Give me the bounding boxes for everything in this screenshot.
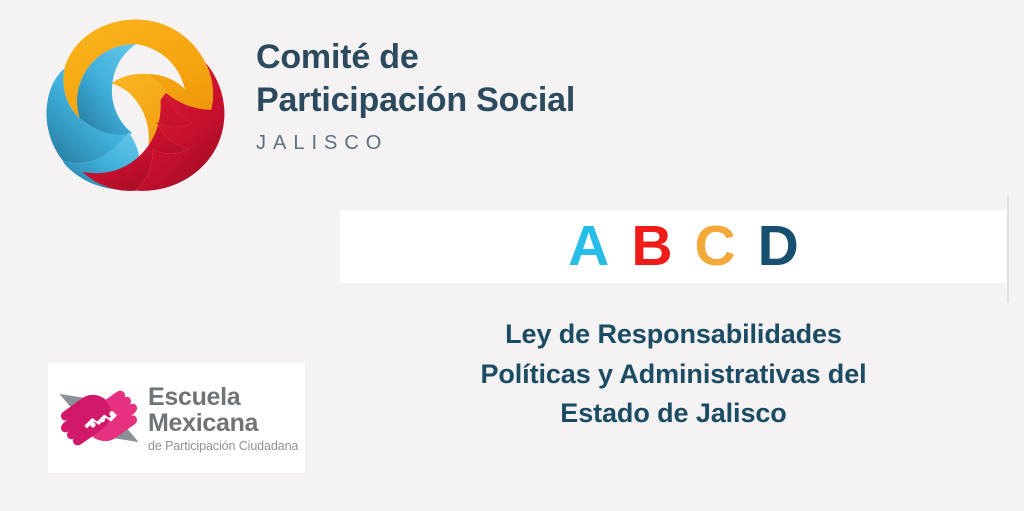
abcd-letter-a: A	[568, 218, 609, 275]
abcd-letters-group: A B C D	[568, 218, 799, 275]
crossed-hands-icon	[56, 375, 142, 461]
abcd-letter-c: C	[695, 218, 736, 275]
escuela-line2: Mexicana	[148, 410, 298, 436]
abcd-panel: A B C D	[340, 210, 1007, 283]
cps-subtitle-jalisco: JALISCO	[256, 132, 736, 155]
law-title-line2: Políticas y Administrativas del	[340, 355, 1007, 395]
cps-logo-icon	[42, 12, 230, 200]
law-title: Ley de Responsabilidades Políticas y Adm…	[340, 315, 1007, 434]
escuela-text-block: Escuela Mexicana de Participación Ciudad…	[148, 382, 298, 455]
cps-title-line2: Participación Social	[256, 79, 736, 122]
escuela-tagline: de Participación Ciudadana	[148, 439, 298, 454]
abcd-letter-d: D	[758, 218, 799, 275]
law-title-line1: Ley de Responsabilidades	[340, 315, 1007, 355]
cps-title-line1: Comité de	[256, 36, 736, 79]
escuela-mexicana-badge: Escuela Mexicana de Participación Ciudad…	[48, 363, 305, 473]
law-title-line3: Estado de Jalisco	[340, 394, 1007, 434]
escuela-line1: Escuela	[148, 384, 298, 410]
cps-wordmark: Comité de Participación Social JALISCO	[256, 36, 736, 155]
abcd-letter-b: B	[631, 218, 672, 275]
